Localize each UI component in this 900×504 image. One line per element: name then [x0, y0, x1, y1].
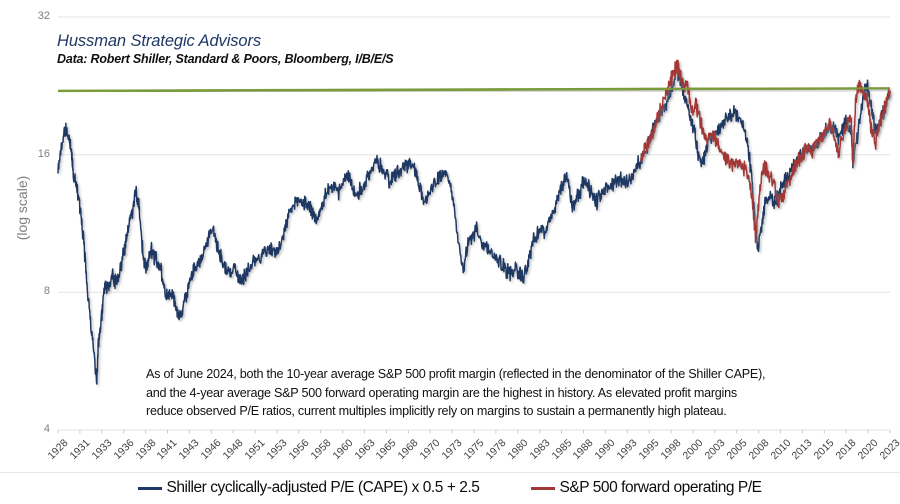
threshold-line-annotation-overlay — [58, 88, 890, 91]
chart-container: 481632 (log scale) 192819311933193619381… — [0, 0, 900, 504]
legend-divider — [0, 472, 900, 473]
y-tick-label: 32 — [24, 11, 50, 22]
chart-legend: Shiller cyclically-adjusted P/E (CAPE) x… — [0, 472, 900, 504]
legend-item-cape: Shiller cyclically-adjusted P/E (CAPE) x… — [138, 479, 479, 497]
legend-label-cape: Shiller cyclically-adjusted P/E (CAPE) x… — [166, 479, 479, 497]
legend-label-forward-pe: S&P 500 forward operating P/E — [559, 479, 761, 497]
annotation-line-3: reduce observed P/E ratios, current mult… — [146, 402, 868, 421]
y-tick-label: 8 — [24, 286, 50, 297]
brand-data-source: Data: Robert Shiller, Standard & Poors, … — [57, 51, 393, 68]
branding-block: Hussman Strategic Advisors Data: Robert … — [57, 31, 393, 68]
annotation-line-1: As of June 2024, both the 10-year averag… — [146, 365, 868, 384]
legend-swatch-cape — [138, 487, 162, 490]
legend-swatch-forward-pe — [531, 487, 555, 490]
chart-plot-area — [0, 0, 900, 504]
legend-item-forward-pe: S&P 500 forward operating P/E — [531, 479, 761, 497]
chart-annotation: As of June 2024, both the 10-year averag… — [146, 365, 868, 421]
y-tick-label: 4 — [24, 424, 50, 435]
annotation-line-2: and the 4-year average S&P 500 forward o… — [146, 384, 868, 403]
brand-title: Hussman Strategic Advisors — [57, 31, 393, 51]
series-line-cape — [58, 66, 890, 384]
y-axis-title: (log scale) — [14, 148, 30, 268]
